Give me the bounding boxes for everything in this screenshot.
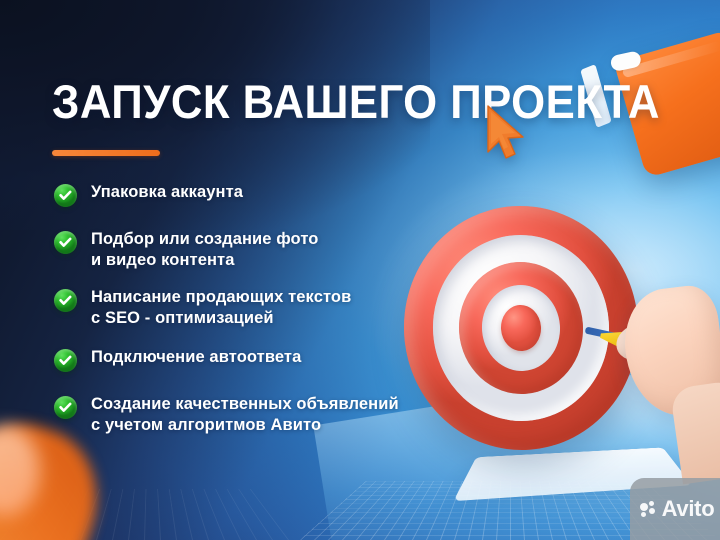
list-item: Написание продающих текстов с SEO - опти…: [54, 287, 474, 329]
check-circle-icon: [54, 289, 77, 312]
check-circle-icon: [54, 231, 77, 254]
avito-dots-logo-icon: [640, 501, 657, 518]
poster-canvas: ЗАПУСК ВАШЕГО ПРОЕКТА Упаковка аккаунта …: [0, 0, 720, 540]
list-item: Создание качественных объявлений с учето…: [54, 394, 474, 436]
list-item: Упаковка аккаунта: [54, 182, 474, 207]
avito-watermark-label: Avito: [662, 498, 715, 520]
check-circle-icon: [54, 396, 77, 419]
feature-list: Упаковка аккаунта Подбор или создание фо…: [54, 182, 474, 448]
list-item-label: Создание качественных объявлений с учето…: [91, 394, 399, 436]
list-item-label: Подбор или создание фото и видео контент…: [91, 229, 318, 271]
list-item: Подключение автоответа: [54, 347, 474, 372]
list-item-label: Написание продающих текстов с SEO - опти…: [91, 287, 351, 329]
list-item-label: Подключение автоответа: [91, 347, 301, 368]
title-underline: [52, 150, 160, 156]
check-circle-icon: [54, 184, 77, 207]
list-item-label: Упаковка аккаунта: [91, 182, 243, 203]
check-circle-icon: [54, 349, 77, 372]
avito-watermark: Avito: [630, 478, 720, 540]
mouse-cursor-arrow-icon: [484, 104, 528, 162]
list-item: Подбор или создание фото и видео контент…: [54, 229, 474, 271]
